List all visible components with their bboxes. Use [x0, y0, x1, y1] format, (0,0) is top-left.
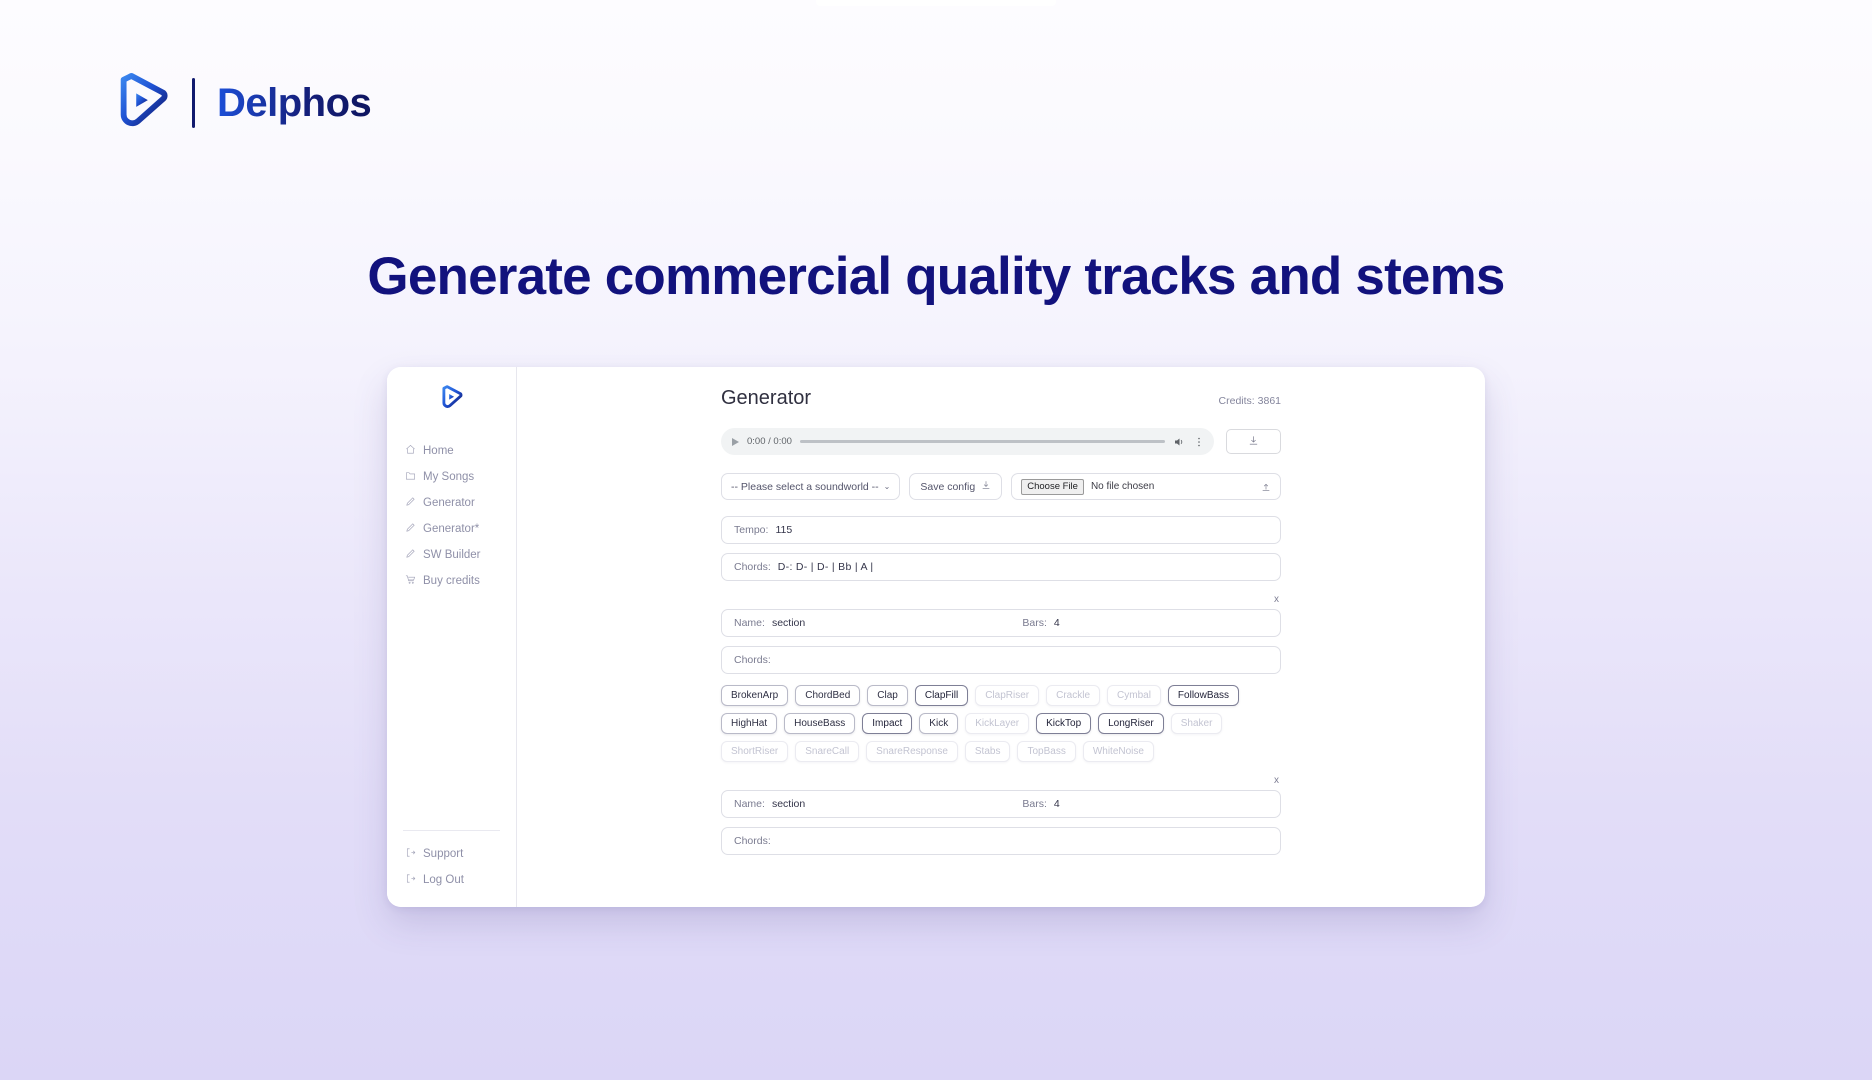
volume-icon[interactable] [1173, 436, 1185, 448]
instrument-tag-kicktop[interactable]: KickTop [1036, 713, 1091, 734]
remove-section-button[interactable]: x [721, 595, 1281, 605]
delphos-play-logo-small-icon [439, 398, 465, 415]
kebab-menu-icon[interactable] [1193, 436, 1205, 448]
sidebar-item-generator[interactable]: Generator [387, 490, 516, 516]
instrument-tag-clap[interactable]: Clap [867, 685, 908, 706]
instrument-tag-highhat[interactable]: HighHat [721, 713, 777, 734]
instrument-tag-shaker[interactable]: Shaker [1171, 713, 1223, 734]
save-config-button[interactable]: Save config [909, 473, 1002, 500]
section-chords-label: Chords: [734, 654, 771, 666]
sidebar-item-label: Generator* [423, 523, 479, 535]
instrument-tag-followbass[interactable]: FollowBass [1168, 685, 1239, 706]
chords-label: Chords: [734, 561, 771, 573]
sidebar-item-home[interactable]: Home [387, 438, 516, 464]
audio-row: 0:00 / 0:00 [721, 428, 1281, 455]
section-name-value: section [772, 798, 805, 810]
instrument-tag-crackle[interactable]: Crackle [1046, 685, 1100, 706]
instrument-tag-topbass[interactable]: TopBass [1017, 741, 1075, 762]
section-name-bars-field[interactable]: Name: section Bars: 4 [721, 609, 1281, 637]
main-header: Generator Credits: 3861 [721, 387, 1281, 410]
sidebar-divider [403, 830, 500, 831]
audio-player[interactable]: 0:00 / 0:00 [721, 428, 1214, 455]
section-name-label: Name: [734, 617, 765, 629]
sidebar-item-label: Log Out [423, 874, 464, 886]
instrument-tag-chordbed[interactable]: ChordBed [795, 685, 860, 706]
instrument-tag-list: BrokenArpChordBedClapClapFillClapRiserCr… [721, 685, 1281, 762]
sidebar-item-generator-star[interactable]: Generator* [387, 516, 516, 542]
download-button[interactable] [1226, 429, 1281, 454]
pencil-icon [405, 522, 416, 536]
instrument-tag-housebass[interactable]: HouseBass [784, 713, 855, 734]
instrument-tag-kick[interactable]: Kick [919, 713, 958, 734]
tempo-value: 115 [775, 524, 792, 536]
pencil-icon [405, 496, 416, 510]
remove-section-button[interactable]: x [721, 776, 1281, 786]
tempo-field[interactable]: Tempo: 115 [721, 516, 1281, 544]
section-chords-label: Chords: [734, 835, 771, 847]
instrument-tag-snarecall[interactable]: SnareCall [795, 741, 859, 762]
instrument-tag-clapfill[interactable]: ClapFill [915, 685, 968, 706]
section-block: x Name: section Bars: 4 Chords: [721, 776, 1281, 855]
section-bars-label: Bars: [1022, 617, 1047, 629]
sidebar-item-log-out[interactable]: Log Out [387, 867, 516, 893]
page-title: Generate commercial quality tracks and s… [0, 246, 1872, 307]
file-status-label: No file chosen [1091, 481, 1254, 492]
sidebar-item-my-songs[interactable]: My Songs [387, 464, 516, 490]
section-name-bars-field[interactable]: Name: section Bars: 4 [721, 790, 1281, 818]
soundworld-select[interactable]: -- Please select a soundworld -- ⌄ [721, 473, 900, 500]
brand-divider [192, 78, 195, 128]
save-config-label: Save config [920, 481, 975, 493]
download-icon [1248, 433, 1259, 451]
folder-icon [405, 470, 416, 484]
sidebar: Home My Songs Generator Generator* [387, 367, 517, 907]
sidebar-item-label: Home [423, 445, 454, 457]
delphos-play-logo-icon [112, 72, 174, 134]
logout-icon [405, 847, 416, 861]
section-name-value: section [772, 617, 805, 629]
brand-name: Delphos [217, 81, 371, 126]
section-chords-field[interactable]: Chords: [721, 646, 1281, 674]
instrument-tag-longriser[interactable]: LongRiser [1098, 713, 1164, 734]
home-icon [405, 444, 416, 458]
cart-icon [405, 574, 416, 588]
section-bars-value: 4 [1054, 617, 1060, 629]
instrument-tag-shortriser[interactable]: ShortRiser [721, 741, 788, 762]
section-chords-field[interactable]: Chords: [721, 827, 1281, 855]
chords-field[interactable]: Chords: D-: D- | D- | Bb | A | [721, 553, 1281, 581]
chords-value: D-: D- | D- | Bb | A | [778, 561, 874, 573]
section-block: x Name: section Bars: 4 Chords: BrokenAr… [721, 595, 1281, 762]
upload-icon[interactable] [1261, 482, 1271, 492]
sidebar-item-buy-credits[interactable]: Buy credits [387, 568, 516, 594]
pencil-icon [405, 548, 416, 562]
sidebar-item-label: Buy credits [423, 575, 480, 587]
instrument-tag-impact[interactable]: Impact [862, 713, 912, 734]
sidebar-spacer [387, 594, 516, 830]
file-upload-field[interactable]: Choose File No file chosen [1011, 473, 1281, 500]
logout-icon [405, 873, 416, 887]
instrument-tag-clapriser[interactable]: ClapRiser [975, 685, 1039, 706]
audio-time: 0:00 / 0:00 [747, 436, 792, 447]
app-window: Home My Songs Generator Generator* [387, 367, 1485, 907]
chevron-down-icon: ⌄ [884, 483, 891, 491]
soundworld-select-value: -- Please select a soundworld -- [731, 481, 879, 493]
instrument-tag-stabs[interactable]: Stabs [965, 741, 1011, 762]
instrument-tag-brokenarp[interactable]: BrokenArp [721, 685, 788, 706]
sidebar-item-support[interactable]: Support [387, 841, 516, 867]
sidebar-nav: Home My Songs Generator Generator* [387, 438, 516, 594]
controls-row: -- Please select a soundworld -- ⌄ Save … [721, 473, 1281, 500]
choose-file-button[interactable]: Choose File [1021, 479, 1084, 495]
sidebar-item-sw-builder[interactable]: SW Builder [387, 542, 516, 568]
brand-logo[interactable]: Delphos [112, 70, 371, 136]
credits-label: Credits: 3861 [1219, 395, 1281, 407]
generator-title: Generator [721, 387, 811, 410]
download-icon [981, 480, 991, 493]
main-content: Generator Credits: 3861 0:00 / 0:00 [517, 367, 1485, 907]
sidebar-item-label: My Songs [423, 471, 474, 483]
section-name-label: Name: [734, 798, 765, 810]
instrument-tag-snareresponse[interactable]: SnareResponse [866, 741, 958, 762]
section-bars-value: 4 [1054, 798, 1060, 810]
sidebar-item-label: Generator [423, 497, 475, 509]
sidebar-item-label: Support [423, 848, 463, 860]
audio-progress-slider[interactable] [800, 440, 1165, 443]
instrument-tag-cymbal[interactable]: Cymbal [1107, 685, 1161, 706]
instrument-tag-whitenoise[interactable]: WhiteNoise [1083, 741, 1154, 762]
play-icon[interactable] [732, 438, 739, 446]
section-bars-label: Bars: [1022, 798, 1047, 810]
sidebar-logo[interactable] [387, 385, 516, 416]
top-sheen-bar [816, 0, 1056, 6]
tempo-label: Tempo: [734, 524, 768, 536]
instrument-tag-kicklayer[interactable]: KickLayer [965, 713, 1029, 734]
sidebar-item-label: SW Builder [423, 549, 481, 561]
